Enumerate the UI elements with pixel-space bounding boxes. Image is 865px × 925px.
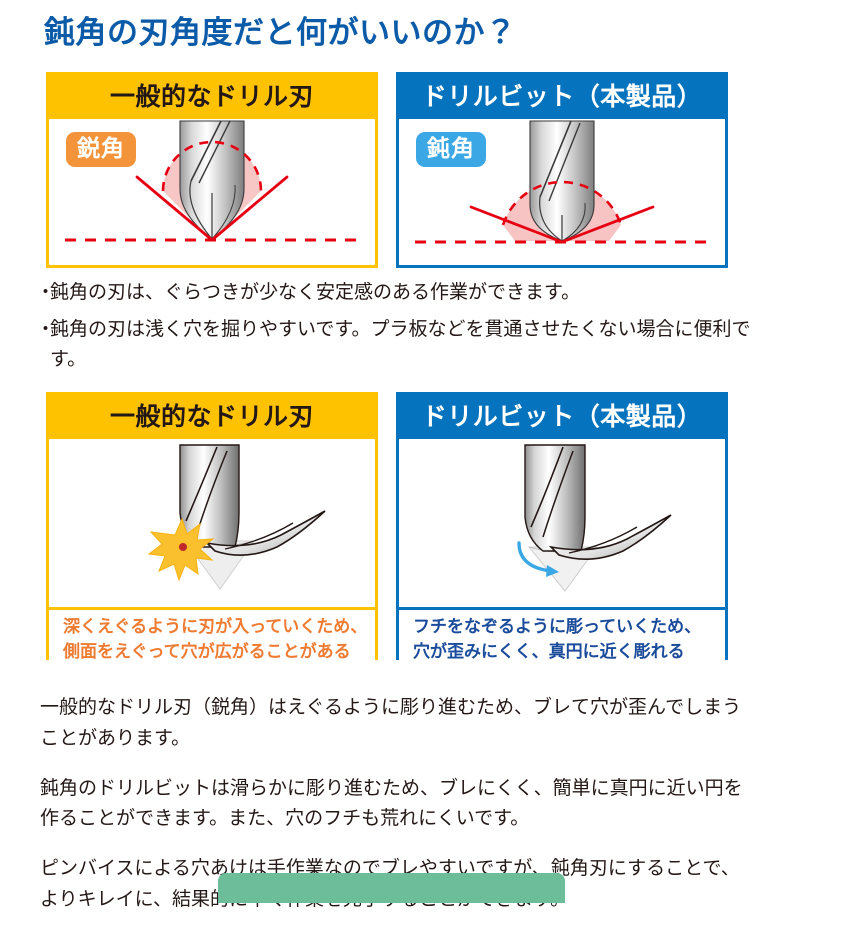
caption-product-drill-cutting: フチをなぞるように彫っていくため、 穴が歪みにくく、真円に近く彫れる: [399, 607, 725, 670]
drill-bit-gouging-illustration: [49, 439, 375, 607]
panel-header-generic-drill-cutting: 一般的なドリル刃: [49, 395, 375, 439]
bullet-text: 鈍角の刃は浅く穴を掘りやすいです。プラ板などを貫通させたくない場合に便利です。: [50, 315, 756, 374]
paragraph: 一般的なドリル刃（鋭角）はえぐるように彫り進むため、ブレて穴が歪んでしまうことが…: [40, 693, 746, 755]
panel-body-product-drill-angle: 鈍角: [399, 119, 725, 263]
panel-header-product-drill-cutting: ドリルビット（本製品）: [399, 395, 725, 439]
panel-body-product-drill-cutting: [399, 439, 725, 607]
list-item: ・ 鈍角の刃は、ぐらつきが少なく安定感のある作業ができます。: [36, 278, 756, 307]
caption-generic-drill-cutting: 深くえぐるように刃が入っていくため、 側面をえぐって穴が広がることがある: [49, 607, 375, 670]
bullet-marker: ・: [36, 315, 50, 344]
panel-product-drill-angle: ドリルビット（本製品） 鈍角: [396, 72, 728, 268]
list-item: ・ 鈍角の刃は浅く穴を掘りやすいです。プラ板などを貫通させたくない場合に便利です…: [36, 315, 756, 374]
bullet-marker: ・: [36, 278, 50, 307]
page-title: 鈍角の刃角度だと何がいいのか？: [44, 14, 517, 51]
acute-angle-drill-tip-diagram: [49, 119, 375, 263]
panel-header-generic-drill-angle: 一般的なドリル刃: [49, 75, 375, 119]
bottom-cta-button[interactable]: [218, 873, 565, 903]
drill-bit-tracing-illustration: [399, 439, 725, 607]
panel-body-generic-drill-angle: 鋭角: [49, 119, 375, 263]
panel-generic-drill-angle: 一般的なドリル刃 鋭角: [46, 72, 378, 268]
obtuse-angle-drill-tip-diagram: [399, 119, 725, 263]
panel-generic-drill-cutting: 一般的なドリル刃: [46, 392, 378, 660]
panel-header-product-drill-angle: ドリルビット（本製品）: [399, 75, 725, 119]
panel-body-generic-drill-cutting: [49, 439, 375, 607]
paragraph: 鈍角のドリルビットは滑らかに彫り進むため、ブレにくく、簡単に真円に近い円を作るこ…: [40, 774, 746, 836]
bullet-text: 鈍角の刃は、ぐらつきが少なく安定感のある作業ができます。: [50, 278, 756, 307]
benefit-bullet-list: ・ 鈍角の刃は、ぐらつきが少なく安定感のある作業ができます。 ・ 鈍角の刃は浅く…: [36, 278, 756, 382]
panel-product-drill-cutting: ドリルビット（本製品）: [396, 392, 728, 660]
